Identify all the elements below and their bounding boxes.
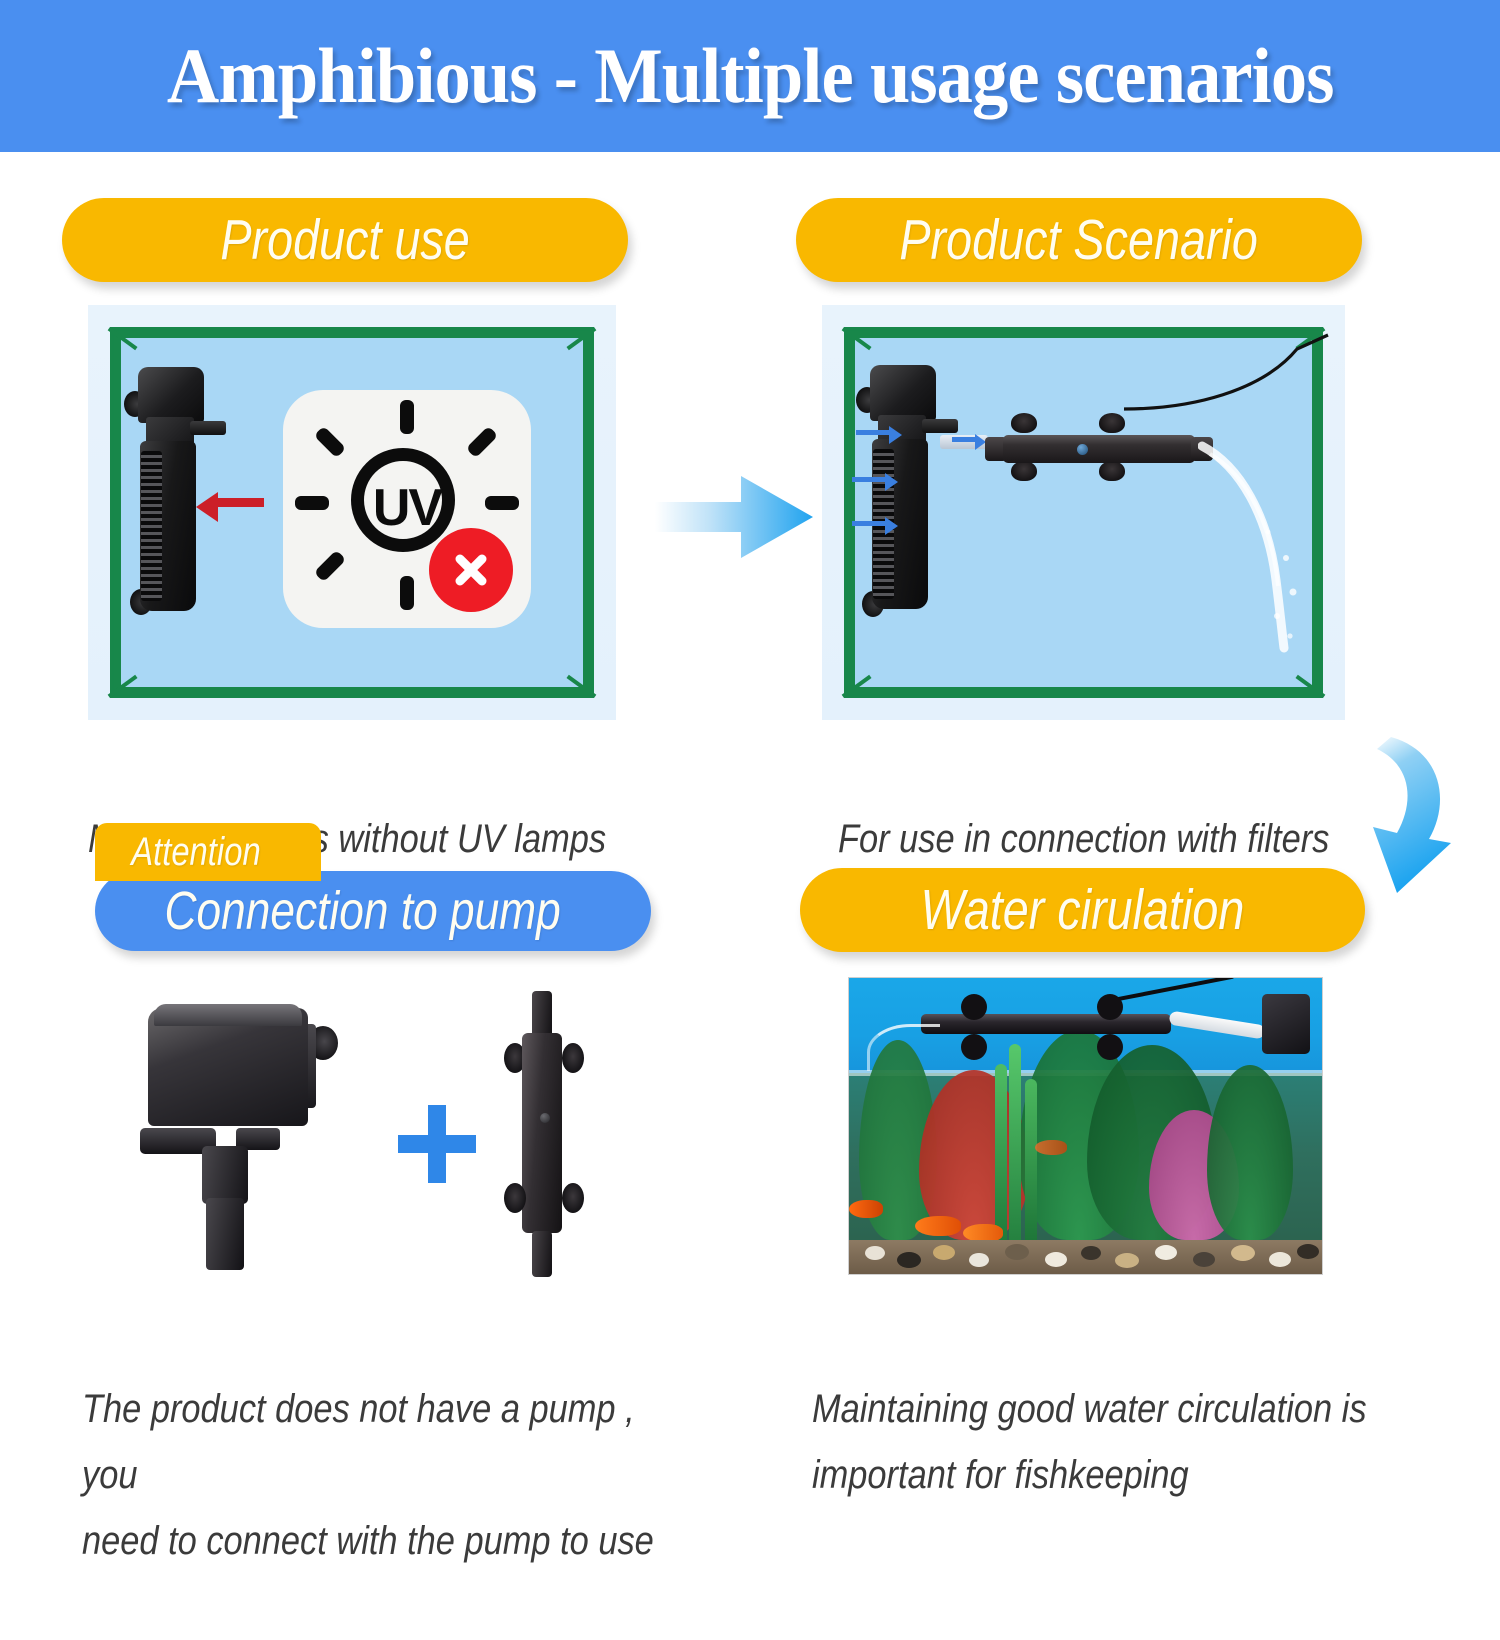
pill-water-circulation: Water cirulation [800,868,1365,952]
red-left-arrow-icon [218,498,264,507]
flow-arrow-curved-down-icon [1355,735,1485,895]
water-spray-stream [1198,440,1338,655]
pill-product-scenario-label: Product Scenario [900,207,1259,273]
suction-mount [504,1183,526,1213]
pebble [933,1245,955,1260]
flow-direction-arrow-icon [952,437,976,442]
step-arrow-right-icon [655,462,815,572]
pebble [1193,1252,1215,1267]
caption-water-circulation: Maintaining good water circulation is im… [812,1310,1500,1574]
pump-lid [154,1004,302,1026]
suction-mount [1097,994,1123,1020]
water-intake-arrow-icon [852,521,886,526]
pump-head [138,367,204,423]
uv-label: UV [283,478,531,538]
pump-outlet-nozzle [922,419,958,433]
pill-product-scenario: Product Scenario [796,198,1362,282]
power-cord [1122,333,1337,413]
pump-vertical-pipe [202,1146,248,1204]
pill-product-use: Product use [62,198,628,282]
sterilizer-bottom-cap [532,1231,552,1277]
sterilizer-top-cap [532,991,552,1037]
sterilizer-body [522,1033,562,1233]
uv-sterilizer-inline [985,425,1220,471]
pump-intake-grille [141,451,162,601]
pill-connection-label: Connection to pump [164,880,560,942]
aquarium-fish [849,1200,883,1218]
aquarium-fish [915,1216,961,1236]
aquarium-fish [1035,1140,1067,1155]
pebble [1005,1244,1029,1260]
pebble [1155,1245,1177,1260]
pebble [969,1253,989,1267]
sun-ray-icon [314,550,347,583]
sun-ray-icon [400,400,414,434]
pebble [1231,1245,1255,1261]
sun-ray-icon [466,426,499,459]
suction-mount [562,1183,584,1213]
header-banner: Amphibious - Multiple usage scenarios [0,0,1500,152]
suction-mount [961,1034,987,1060]
uv-unavailable-icon: UV [283,390,531,628]
red-x-badge-icon [429,528,513,612]
pebble [1269,1252,1291,1267]
tab-attention-label: Attention [131,830,260,875]
aquarium-gravel [849,1240,1322,1274]
suction-mount [1011,413,1037,433]
aquarium-pump [1262,994,1310,1054]
suction-mount [1011,461,1037,481]
sterilizer-tube [1003,435,1195,463]
sun-ray-icon [314,426,347,459]
water-intake-arrow-icon [852,477,886,482]
pump-intake-stem [206,1198,244,1270]
photo-uv-sterilizer [480,985,610,1285]
uv-sterilizer-tube [921,1014,1171,1034]
suction-mount [1099,413,1125,433]
pebble [1297,1244,1319,1259]
sun-ray-icon [400,576,414,610]
infographic-page: Amphibious - Multiple usage scenarios Pr… [0,0,1500,1431]
pill-water-circulation-label: Water cirulation [921,877,1245,943]
pebble [1081,1246,1101,1260]
pump-head [870,365,936,421]
photo-water-pump [140,1000,365,1275]
tab-attention: Attention [95,823,321,881]
caption-connection-to-pump: The product does not have a pump , you n… [82,1310,782,1640]
suction-mount [961,994,987,1020]
page-title: Amphibious - Multiple usage scenarios [167,31,1334,121]
pebble [1045,1252,1067,1267]
pebble [897,1252,921,1268]
pebble [865,1246,885,1260]
pill-product-use-label: Product use [220,207,469,273]
pebble [1115,1253,1139,1268]
suction-mount [562,1043,584,1073]
aquarium-grass [995,1064,1007,1244]
suction-mount [1097,1034,1123,1060]
pill-connection-to-pump: Connection to pump [95,871,651,951]
photo-planted-aquarium [848,977,1323,1275]
water-intake-arrow-icon [856,430,890,435]
internal-filter-pump [856,365,966,623]
aquarium-grass [1009,1044,1021,1244]
plus-operator-icon [398,1105,476,1183]
aquarium-grass [1025,1079,1037,1244]
pump-outlet-nozzle [190,421,226,435]
indicator-light [540,1113,550,1123]
indicator-light [1077,444,1088,455]
suction-mount [1099,461,1125,481]
